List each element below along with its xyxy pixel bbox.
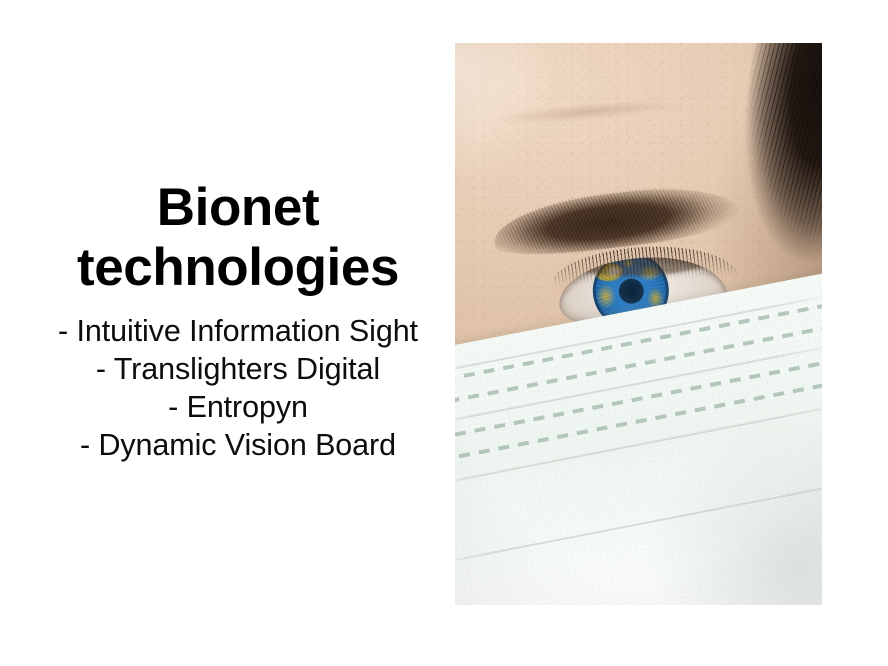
slide-canvas: Bionet technologies - Intuitive Informat… bbox=[0, 0, 888, 666]
page-title: Bionet technologies bbox=[28, 178, 448, 298]
list-item: - Entropyn bbox=[28, 388, 448, 426]
eye-globe-photo bbox=[455, 43, 822, 605]
list-item: - Intuitive Information Sight bbox=[28, 312, 448, 350]
text-content-block: Bionet technologies - Intuitive Informat… bbox=[28, 178, 448, 464]
list-item: - Dynamic Vision Board bbox=[28, 426, 448, 464]
feature-list: - Intuitive Information Sight - Translig… bbox=[28, 312, 448, 465]
list-item: - Translighters Digital bbox=[28, 350, 448, 388]
